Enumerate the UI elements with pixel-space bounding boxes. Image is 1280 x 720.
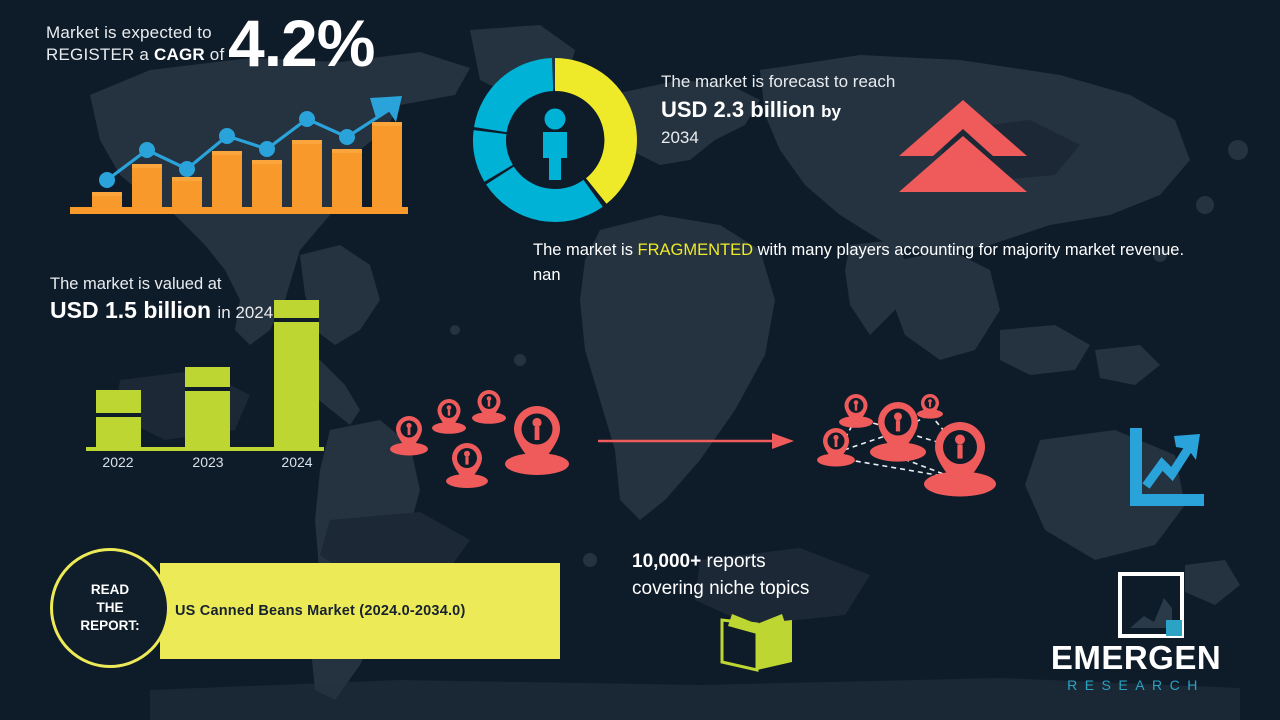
infographic-canvas: Market is expected to REGISTER a CAGR of… bbox=[0, 0, 1280, 720]
reports-count-unit: reports bbox=[701, 551, 765, 572]
reports-count-block: 10,000+ reports covering niche topics bbox=[632, 548, 809, 602]
forecast-block: The market is forecast to reach USD 2.3 … bbox=[661, 70, 901, 149]
person-icon bbox=[543, 109, 567, 181]
logo-subtitle: RESEARCH bbox=[1020, 676, 1252, 694]
reports-count-value: 10,000+ bbox=[632, 551, 701, 572]
fragmented-highlight: FRAGMENTED bbox=[638, 241, 754, 259]
right-arrow-icon bbox=[596, 428, 796, 454]
cagr-line2-bold: CAGR bbox=[154, 45, 205, 64]
report-banner[interactable]: US Canned Beans Market (2024.0-2034.0) bbox=[160, 563, 560, 659]
cagr-label: Market is expected to REGISTER a CAGR of bbox=[46, 22, 224, 66]
emergen-research-logo: EMERGEN RESEARCH bbox=[1020, 572, 1252, 698]
map-pin-cluster-icon bbox=[382, 388, 582, 498]
forecast-by: by bbox=[821, 102, 841, 121]
read-the-report-button[interactable]: READ THE REPORT: bbox=[50, 548, 170, 668]
market-value-label: The market is valued at bbox=[50, 273, 273, 295]
cagr-value: 4.2% bbox=[228, 10, 374, 76]
cagr-block: Market is expected to REGISTER a CAGR of bbox=[46, 22, 224, 66]
line-chart-arrow-icon bbox=[1122, 424, 1204, 508]
reports-count-line: 10,000+ reports bbox=[632, 548, 809, 575]
green-chart-baseline bbox=[86, 447, 324, 451]
growth-bar-chart bbox=[70, 88, 408, 220]
forecast-value-line: USD 2.3 billion by bbox=[661, 95, 901, 127]
chart-baseline bbox=[70, 207, 408, 214]
connected-map-pin-cluster-icon bbox=[808, 386, 1008, 501]
cagr-line1: Market is expected to bbox=[46, 23, 212, 42]
fragmented-statement: The market is FRAGMENTED with many playe… bbox=[533, 238, 1213, 288]
read-the-report-label: READ THE REPORT: bbox=[80, 581, 139, 635]
logo-mark-icon bbox=[1118, 572, 1184, 638]
market-share-donut bbox=[466, 54, 644, 226]
open-book-icon bbox=[718, 612, 796, 672]
x-tick-2023: 2023 bbox=[192, 454, 223, 470]
double-chevron-up-icon bbox=[897, 96, 1029, 192]
x-tick-2022: 2022 bbox=[102, 454, 133, 470]
fragmented-pre: The market is bbox=[533, 241, 638, 259]
cagr-line2-pre: REGISTER a bbox=[46, 45, 154, 64]
donut-slice-2 bbox=[486, 167, 603, 222]
donut-slice-4 bbox=[474, 58, 553, 132]
report-title: US Canned Beans Market (2024.0-2034.0) bbox=[175, 603, 465, 619]
forecast-label: The market is forecast to reach bbox=[661, 70, 901, 93]
donut-slice-1 bbox=[555, 58, 637, 204]
forecast-year: 2034 bbox=[661, 127, 901, 149]
x-tick-2024: 2024 bbox=[281, 454, 312, 470]
cagr-line2-post: of bbox=[205, 45, 225, 64]
forecast-value: USD 2.3 billion bbox=[661, 97, 815, 122]
market-value-bar-chart: 2022 2023 2024 bbox=[80, 295, 330, 470]
green-bar-group bbox=[96, 300, 319, 447]
reports-subline: covering niche topics bbox=[632, 575, 809, 602]
logo-name: EMERGEN bbox=[1020, 640, 1252, 676]
